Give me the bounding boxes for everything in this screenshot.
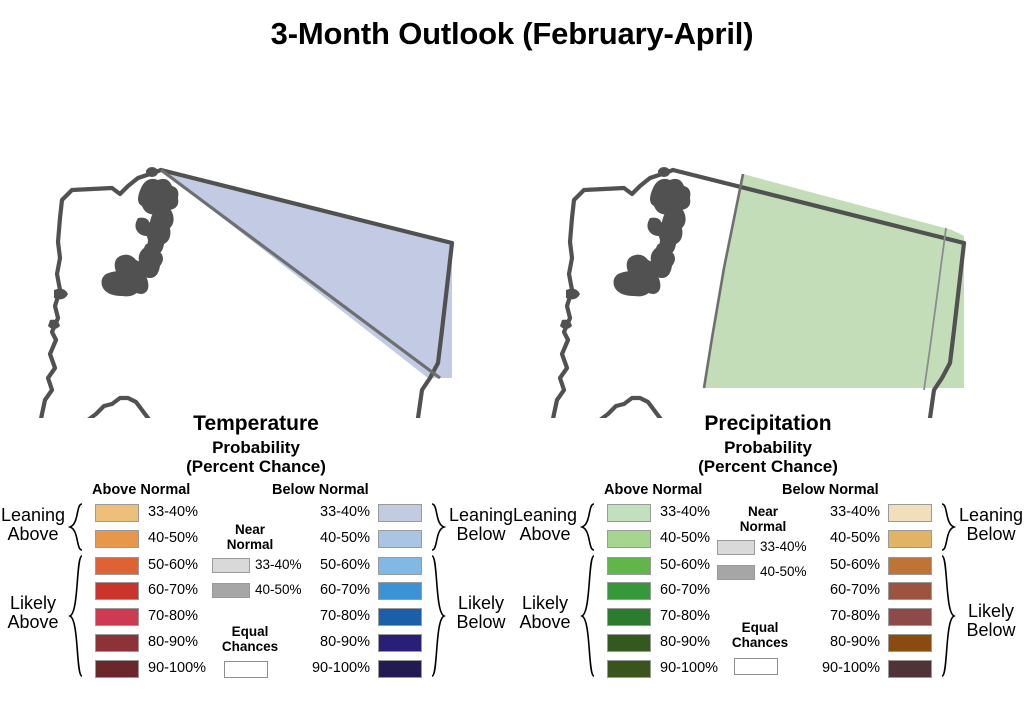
swatch-near-normal-0[interactable] xyxy=(212,558,250,573)
pct-below-1: 40-50% xyxy=(280,530,370,546)
swatch-below-4[interactable] xyxy=(378,608,422,626)
outlook-page: 3-Month Outlook (February-April) xyxy=(0,0,1024,711)
group-label-leaning-above: LeaningAbove xyxy=(0,506,66,544)
pct-below-5: 80-90% xyxy=(280,634,370,650)
pct-above-0: 33-40% xyxy=(148,504,198,520)
swatch-above-3[interactable] xyxy=(95,582,139,600)
pct-below-6: 90-100% xyxy=(280,660,370,676)
swatch-above-2[interactable] xyxy=(607,557,651,575)
swatch-below-3[interactable] xyxy=(888,582,932,600)
temperature-map[interactable] xyxy=(0,78,512,418)
swatch-below-2[interactable] xyxy=(888,557,932,575)
swatch-above-5[interactable] xyxy=(95,634,139,652)
pct-above-5: 80-90% xyxy=(148,634,198,650)
probability-line-1: Probability xyxy=(512,438,1024,457)
pct-above-0: 33-40% xyxy=(660,504,710,520)
swatch-equal-chances[interactable] xyxy=(224,661,268,678)
pct-below-6: 90-100% xyxy=(790,660,880,676)
pct-above-1: 40-50% xyxy=(148,530,198,546)
swatch-below-6[interactable] xyxy=(888,660,932,678)
pct-above-3: 60-70% xyxy=(660,582,710,598)
pct-above-4: 70-80% xyxy=(660,608,710,624)
near-normal-label: NearNormal xyxy=(215,522,285,552)
panel-title-temperature: Temperature xyxy=(0,412,512,436)
pct-above-3: 60-70% xyxy=(148,582,198,598)
pct-below-0: 33-40% xyxy=(790,504,880,520)
swatch-above-5[interactable] xyxy=(607,634,651,652)
swatch-above-0[interactable] xyxy=(95,504,139,522)
swatch-below-1[interactable] xyxy=(378,530,422,548)
swatch-below-0[interactable] xyxy=(378,504,422,522)
legend-temperature: Above Normal Below Normal LeaningAbove L… xyxy=(0,482,512,697)
probability-caption-temperature: Probability (Percent Chance) xyxy=(0,438,512,476)
swatch-near-normal-1[interactable] xyxy=(717,565,755,580)
brace-leaning-below xyxy=(940,502,956,552)
pct-below-2: 50-60% xyxy=(280,557,370,573)
brace-leaning-below xyxy=(430,502,446,552)
swatch-above-0[interactable] xyxy=(607,504,651,522)
temperature-panel: Temperature Probability (Percent Chance)… xyxy=(0,78,512,711)
probability-line-2: (Percent Chance) xyxy=(512,457,1024,476)
pct-below-5: 80-90% xyxy=(790,634,880,650)
swatch-below-2[interactable] xyxy=(378,557,422,575)
probability-line-2: (Percent Chance) xyxy=(0,457,512,476)
swatch-near-normal-1[interactable] xyxy=(212,583,250,598)
legend-header-below-normal: Below Normal xyxy=(272,482,369,498)
brace-leaning-above xyxy=(68,502,84,552)
precipitation-panel: Precipitation Probability (Percent Chanc… xyxy=(512,78,1024,711)
swatch-above-2[interactable] xyxy=(95,557,139,575)
pct-above-2: 50-60% xyxy=(660,557,710,573)
pct-below-4: 70-80% xyxy=(280,608,370,624)
swatch-above-1[interactable] xyxy=(95,530,139,548)
brace-likely-above xyxy=(580,554,596,678)
group-label-likely-below: LikelyBelow xyxy=(448,594,514,632)
precipitation-map[interactable] xyxy=(512,78,1024,418)
probability-line-1: Probability xyxy=(0,438,512,457)
pct-above-6: 90-100% xyxy=(660,660,718,676)
group-label-likely-above: LikelyAbove xyxy=(512,594,578,632)
brace-leaning-above xyxy=(580,502,596,552)
group-label-likely-below: LikelyBelow xyxy=(958,602,1024,640)
pct-above-2: 50-60% xyxy=(148,557,198,573)
probability-caption-precipitation: Probability (Percent Chance) xyxy=(512,438,1024,476)
swatch-below-5[interactable] xyxy=(888,634,932,652)
legend-header-above-normal: Above Normal xyxy=(92,482,190,498)
swatch-above-6[interactable] xyxy=(95,660,139,678)
legend-precipitation: Above Normal Below Normal LeaningAbove L… xyxy=(512,482,1024,697)
pct-below-4: 70-80% xyxy=(790,608,880,624)
pct-above-1: 40-50% xyxy=(660,530,710,546)
pct-above-6: 90-100% xyxy=(148,660,206,676)
legend-header-below-normal: Below Normal xyxy=(782,482,879,498)
brace-likely-below xyxy=(940,554,956,678)
group-label-leaning-above: LeaningAbove xyxy=(512,506,578,544)
page-title: 3-Month Outlook (February-April) xyxy=(0,16,1024,52)
pct-below-0: 33-40% xyxy=(280,504,370,520)
swatch-below-1[interactable] xyxy=(888,530,932,548)
group-label-leaning-below: LeaningBelow xyxy=(448,506,514,544)
group-label-leaning-below: LeaningBelow xyxy=(958,506,1024,544)
group-label-likely-above: LikelyAbove xyxy=(0,594,66,632)
swatch-above-3[interactable] xyxy=(607,582,651,600)
precipitation-region-33-40 xyxy=(704,174,964,388)
swatch-below-5[interactable] xyxy=(378,634,422,652)
legend-header-above-normal: Above Normal xyxy=(604,482,702,498)
panel-title-precipitation: Precipitation xyxy=(512,412,1024,436)
swatch-above-6[interactable] xyxy=(607,660,651,678)
pct-above-5: 80-90% xyxy=(660,634,710,650)
swatch-near-normal-0[interactable] xyxy=(717,540,755,555)
swatch-above-1[interactable] xyxy=(607,530,651,548)
swatch-below-3[interactable] xyxy=(378,582,422,600)
swatch-below-0[interactable] xyxy=(888,504,932,522)
pct-above-4: 70-80% xyxy=(148,608,198,624)
swatch-equal-chances[interactable] xyxy=(734,658,778,675)
pct-below-3: 60-70% xyxy=(280,582,370,598)
brace-likely-above xyxy=(68,554,84,678)
pct-below-1: 40-50% xyxy=(790,530,880,546)
swatch-above-4[interactable] xyxy=(607,608,651,626)
swatch-above-4[interactable] xyxy=(95,608,139,626)
pct-below-2: 50-60% xyxy=(790,557,880,573)
brace-likely-below xyxy=(430,554,446,678)
swatch-below-6[interactable] xyxy=(378,660,422,678)
swatch-below-4[interactable] xyxy=(888,608,932,626)
pct-below-3: 60-70% xyxy=(790,582,880,598)
